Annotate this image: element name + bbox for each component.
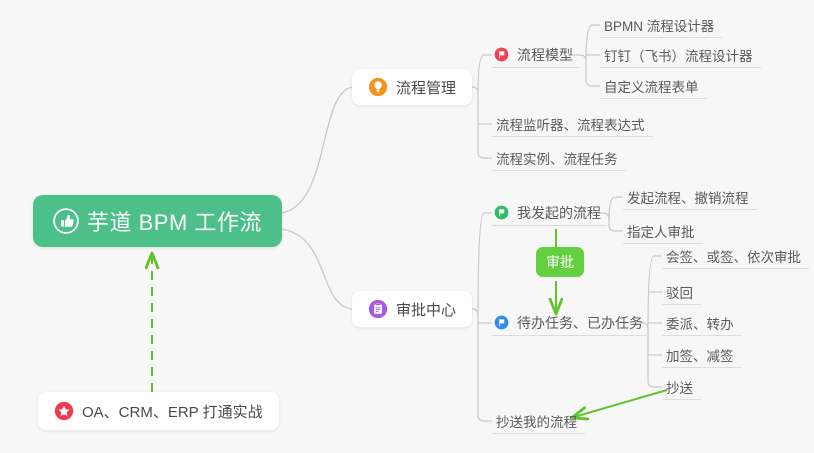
leaf-label: 委派、转办 xyxy=(666,313,734,333)
leaf-label: 发起流程、撤销流程 xyxy=(627,187,749,207)
leaf-delegate-transfer[interactable]: 委派、转办 xyxy=(662,311,742,336)
branch-node-label: 审批中心 xyxy=(396,299,456,320)
leaf-dingtalk-feishu-designer[interactable]: 钉钉（飞书）流程设计器 xyxy=(600,43,761,68)
mindmap-canvas: 芋道 BPM 工作流 流程管理 流程模型 BPMN 流程设计器 钉钉（飞书）流程… xyxy=(0,0,814,453)
leaf-add-remove-sign[interactable]: 加签、减签 xyxy=(662,343,742,368)
edge-root-to-approval-center xyxy=(281,229,352,309)
leaf-label: 加签、减签 xyxy=(666,345,734,365)
node-process-model[interactable]: 流程模型 xyxy=(492,42,579,68)
leaf-bpmn-designer[interactable]: BPMN 流程设计器 xyxy=(600,13,722,38)
leaf-start-cancel-process[interactable]: 发起流程、撤销流程 xyxy=(623,185,757,210)
leaf-label: 流程监听器、流程表达式 xyxy=(496,114,645,134)
leaf-cc[interactable]: 抄送 xyxy=(662,375,701,400)
leaf-label: 抄送 xyxy=(666,377,693,397)
node-my-started-processes[interactable]: 我发起的流程 xyxy=(492,200,607,226)
thumbs-up-icon xyxy=(53,208,79,234)
branch-node-process-management[interactable]: 流程管理 xyxy=(352,69,472,105)
node-label: 流程模型 xyxy=(517,45,573,65)
leaf-assignee-approval[interactable]: 指定人审批 xyxy=(623,219,703,244)
leaf-process-listener-expression[interactable]: 流程监听器、流程表达式 xyxy=(492,112,653,137)
node-label: 待办任务、已办任务 xyxy=(517,313,643,333)
edge-model-to-bpmn xyxy=(586,25,600,61)
leaf-countersign-orsign-sequential[interactable]: 会签、或签、依次审批 xyxy=(662,244,809,269)
edge-ac-to-my-started xyxy=(478,213,492,315)
node-todo-done-tasks[interactable]: 待办任务、已办任务 xyxy=(492,310,649,336)
clipboard-icon xyxy=(368,299,388,319)
edge-todo-to-countersign xyxy=(648,256,662,329)
leaf-label: 钉钉（飞书）流程设计器 xyxy=(604,45,753,65)
leaf-reject[interactable]: 驳回 xyxy=(662,280,701,305)
edge-root-to-process-management xyxy=(281,87,352,213)
leaf-label: 抄送我的流程 xyxy=(496,411,577,431)
arrow-cc-link xyxy=(574,390,667,417)
leaf-label: 流程实例、流程任务 xyxy=(496,148,618,168)
lightbulb-icon xyxy=(368,77,388,97)
annotation-integration-node[interactable]: OA、CRM、ERP 打通实战 xyxy=(38,392,279,430)
leaf-label: 会签、或签、依次审批 xyxy=(666,246,801,266)
edge-pm-to-process-model xyxy=(478,55,492,93)
annotation-approval-badge[interactable]: 审批 xyxy=(536,247,584,277)
root-node[interactable]: 芋道 BPM 工作流 xyxy=(33,195,282,247)
leaf-label: 指定人审批 xyxy=(627,221,695,241)
annotation-badge-label: 审批 xyxy=(546,252,574,272)
root-node-label: 芋道 BPM 工作流 xyxy=(87,205,262,237)
leaf-cc-to-me-processes[interactable]: 抄送我的流程 xyxy=(492,409,585,434)
branch-node-label: 流程管理 xyxy=(396,77,456,98)
flag-icon xyxy=(494,315,509,330)
leaf-custom-process-form[interactable]: 自定义流程表单 xyxy=(600,74,707,99)
node-label: 我发起的流程 xyxy=(517,203,601,223)
flag-icon xyxy=(494,205,509,220)
flag-icon xyxy=(494,47,509,62)
edge-started-to-start-cancel xyxy=(609,197,623,219)
annotation-node-label: OA、CRM、ERP 打通实战 xyxy=(82,401,263,422)
leaf-label: BPMN 流程设计器 xyxy=(604,15,714,35)
leaf-process-instance-task[interactable]: 流程实例、流程任务 xyxy=(492,146,626,171)
leaf-label: 自定义流程表单 xyxy=(604,76,699,96)
star-icon xyxy=(54,401,74,421)
leaf-label: 驳回 xyxy=(666,282,693,302)
branch-node-approval-center[interactable]: 审批中心 xyxy=(352,291,472,327)
